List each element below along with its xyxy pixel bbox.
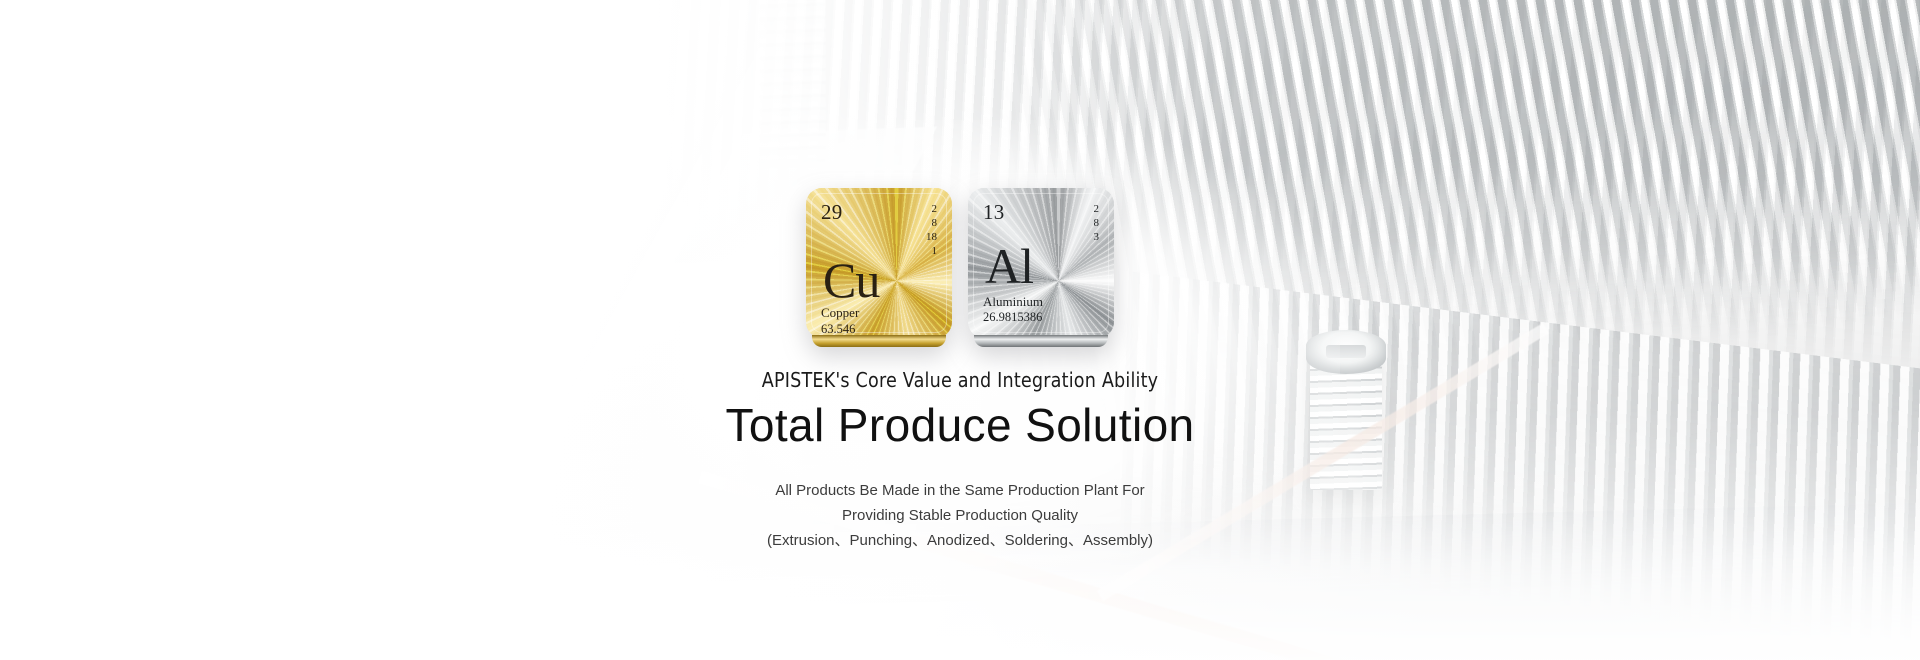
aluminium-tile-bevel — [974, 335, 1108, 347]
copper-shell-3: 18 — [926, 230, 937, 244]
aluminium-tile-footer: Aluminium 26.9815386 — [983, 294, 1099, 326]
copper-atomic-weight: 63.546 — [821, 322, 937, 338]
aluminium-atomic-number: 13 — [983, 202, 1004, 223]
heatsink-standoff-slot — [1326, 345, 1366, 358]
element-tiles: 29 2 8 18 1 Cu Copper 63.546 13 2 8 — [0, 188, 1920, 338]
element-tile-copper: 29 2 8 18 1 Cu Copper 63.546 — [806, 188, 952, 338]
heatsink-standoff-left — [760, 0, 826, 170]
copper-electron-shells: 2 8 18 1 — [926, 202, 937, 258]
hero-banner: 29 2 8 18 1 Cu Copper 63.546 13 2 8 — [0, 0, 1920, 660]
aluminium-symbol: Al — [985, 242, 1099, 291]
banner-headline: Total Produce Solution — [0, 399, 1920, 451]
element-tile-aluminium: 13 2 8 3 Al Aluminium 26.9815386 — [968, 188, 1114, 338]
banner-body-line-1: All Products Be Made in the Same Product… — [0, 479, 1920, 504]
copper-shell-2: 8 — [932, 216, 938, 230]
copper-symbol: Cu — [823, 256, 937, 305]
aluminium-atomic-weight: 26.9815386 — [983, 310, 1099, 326]
copper-tile-footer: Copper 63.546 — [821, 305, 937, 337]
copper-shell-1: 2 — [932, 202, 938, 216]
banner-copy: APISTEK's Core Value and Integration Abi… — [0, 368, 1920, 554]
banner-body-line-2: Providing Stable Production Quality — [0, 504, 1920, 529]
aluminium-name: Aluminium — [983, 294, 1099, 310]
aluminium-electron-shells: 2 8 3 — [1094, 202, 1100, 244]
banner-body-line-3: (Extrusion、Punching、Anodized、Soldering、A… — [0, 529, 1920, 554]
aluminium-shell-1: 2 — [1094, 202, 1100, 216]
aluminium-shell-2: 8 — [1094, 216, 1100, 230]
banner-body: All Products Be Made in the Same Product… — [0, 479, 1920, 553]
copper-name: Copper — [821, 305, 937, 321]
copper-tile-top-row: 29 2 8 18 1 — [821, 202, 937, 258]
copper-atomic-number: 29 — [821, 202, 842, 223]
banner-eyebrow: APISTEK's Core Value and Integration Abi… — [115, 368, 1805, 392]
